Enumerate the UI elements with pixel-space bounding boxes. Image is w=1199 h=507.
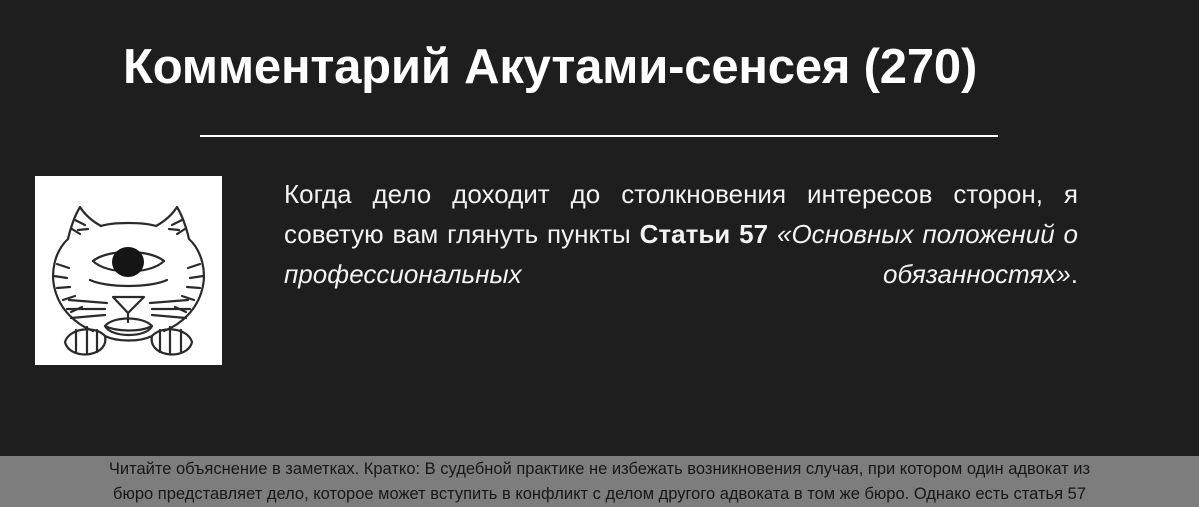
caption-bar: Читайте объяснение в заметках. Кратко: В…: [0, 456, 1199, 507]
caption-line-1: Читайте объяснение в заметках. Кратко: В…: [10, 457, 1189, 482]
title-divider: [200, 135, 998, 137]
quote-text: Когда дело доходит до столкновения интер…: [284, 174, 1078, 334]
cat-pupil: [112, 247, 144, 277]
slide-root: Комментарий Акутами-сенсея (270): [0, 0, 1199, 507]
caption-line-2: бюро представляет дело, которое может вс…: [10, 482, 1189, 507]
cat-self-portrait-icon: [35, 176, 222, 365]
author-portrait: [35, 176, 222, 365]
quote-segment-bold: Статьи 57: [640, 219, 768, 249]
quote-segment-space: [768, 219, 777, 249]
quote-segment-period: .: [1071, 259, 1078, 289]
page-title: Комментарий Акутами-сенсея (270): [123, 38, 1083, 96]
